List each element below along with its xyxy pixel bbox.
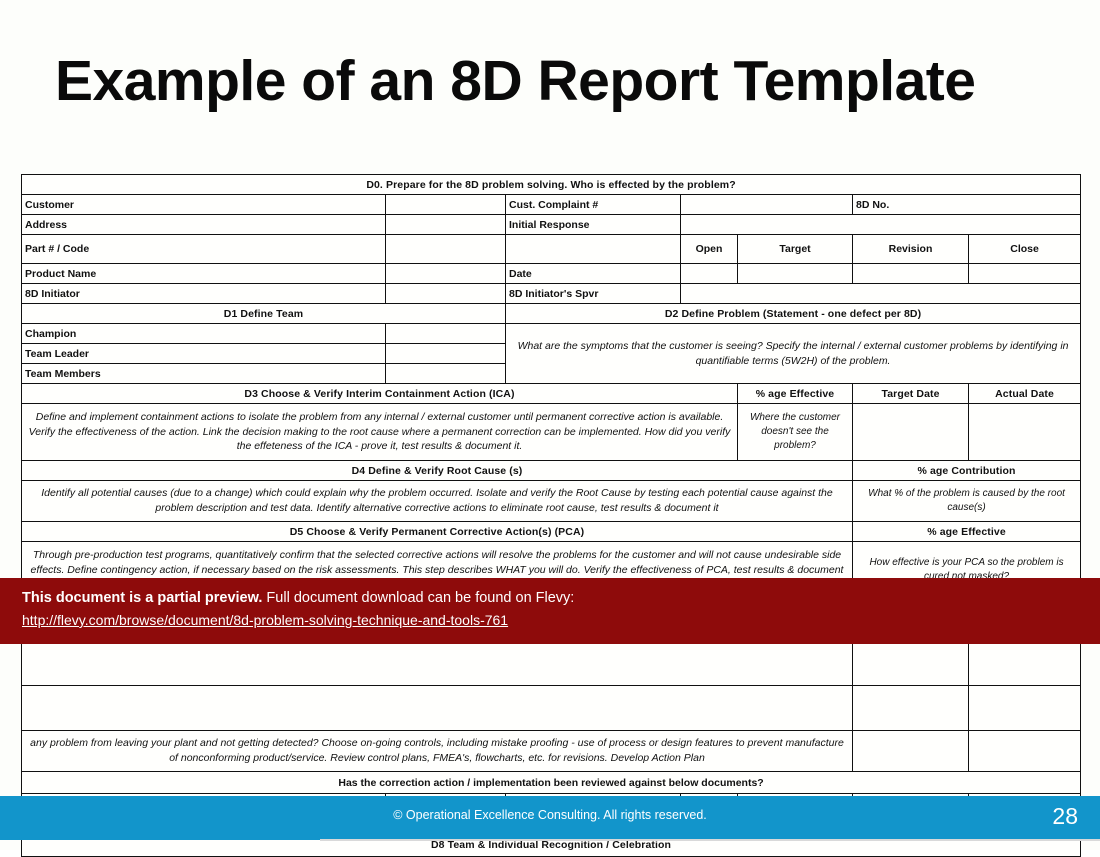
date-close-cell[interactable]	[969, 264, 1081, 284]
d7-description: any problem from leaving your plant and …	[22, 731, 853, 772]
eight-d-form-table: D0. Prepare for the 8D problem solving. …	[21, 174, 1080, 857]
banner-rest-text: Full document download can be found on F…	[266, 590, 574, 606]
table-row: Customer Cust. Complaint # 8D No.	[22, 195, 1081, 215]
table-row: any problem from leaving your plant and …	[22, 731, 1081, 772]
initiator-label: 8D Initiator	[22, 284, 386, 304]
product-name-value-cell[interactable]	[386, 264, 506, 284]
part-code-spacer-cell	[506, 235, 681, 264]
table-row: Has the correction action / implementati…	[22, 772, 1081, 794]
d3-pct-effective-header: % age Effective	[738, 384, 853, 404]
cust-complaint-label: Cust. Complaint #	[506, 195, 681, 215]
date-label: Date	[506, 264, 681, 284]
champion-value-cell[interactable]	[386, 324, 506, 344]
open-column-header: Open	[681, 235, 738, 264]
d2-description: What are the symptoms that the customer …	[506, 324, 1081, 384]
d5-section-header: D5 Choose & Verify Permanent Corrective …	[22, 522, 853, 542]
d3-target-date-cell[interactable]	[853, 404, 969, 461]
table-row: Define and implement containment actions…	[22, 404, 1081, 461]
copyright-text: © Operational Excellence Consulting. All…	[0, 808, 1100, 822]
table-row: D4 Define & Verify Root Cause (s) % age …	[22, 461, 1081, 481]
slide-canvas: Example of an 8D Report Template D0. Pre…	[0, 0, 1100, 850]
d3-actual-date-header: Actual Date	[969, 384, 1081, 404]
table-row: D0. Prepare for the 8D problem solving. …	[22, 175, 1081, 195]
d5-pct-effective-header: % age Effective	[853, 522, 1081, 542]
cust-complaint-value-cell[interactable]	[681, 195, 853, 215]
page-title: Example of an 8D Report Template	[55, 48, 976, 114]
d7-actual-date-cell[interactable]	[969, 731, 1081, 772]
customer-value-cell[interactable]	[386, 195, 506, 215]
date-revision-cell[interactable]	[853, 264, 969, 284]
banner-line-1: This document is a partial preview. Full…	[22, 588, 1100, 608]
part-code-value-cell[interactable]	[386, 235, 506, 264]
initiator-spvr-label: 8D Initiator's Spvr	[506, 284, 681, 304]
d2-section-header: D2 Define Problem (Statement - one defec…	[506, 304, 1081, 324]
initiator-spvr-value-cell[interactable]	[681, 284, 1081, 304]
close-column-header: Close	[969, 235, 1081, 264]
form-table: D0. Prepare for the 8D problem solving. …	[21, 174, 1081, 857]
address-label: Address	[22, 215, 386, 235]
initiator-value-cell[interactable]	[386, 284, 506, 304]
d3-section-header: D3 Choose & Verify Interim Containment A…	[22, 384, 738, 404]
table-row: D5 Choose & Verify Permanent Corrective …	[22, 522, 1081, 542]
table-row: Part # / Code Open Target Revision Close	[22, 235, 1081, 264]
d3-actual-date-cell[interactable]	[969, 404, 1081, 461]
revision-column-header: Revision	[853, 235, 969, 264]
footer-divider	[320, 839, 1100, 841]
d7-hidden-header-cell	[22, 686, 853, 731]
flevy-document-link[interactable]: http://flevy.com/browse/document/8d-prob…	[22, 610, 508, 631]
table-row: Address Initial Response	[22, 215, 1081, 235]
table-row: 8D Initiator 8D Initiator's Spvr	[22, 284, 1081, 304]
address-value-cell[interactable]	[386, 215, 506, 235]
d4-pct-contribution-header: % age Contribution	[853, 461, 1081, 481]
date-open-cell[interactable]	[681, 264, 738, 284]
team-leader-label: Team Leader	[22, 344, 386, 364]
team-leader-value-cell[interactable]	[386, 344, 506, 364]
d3-pct-effective-note: Where the customer doesn't see the probl…	[738, 404, 853, 461]
part-code-label: Part # / Code	[22, 235, 386, 264]
d7-review-question: Has the correction action / implementati…	[22, 772, 1081, 794]
d4-section-header: D4 Define & Verify Root Cause (s)	[22, 461, 853, 481]
champion-label: Champion	[22, 324, 386, 344]
d0-section-header: D0. Prepare for the 8D problem solving. …	[22, 175, 1081, 195]
d4-description: Identify all potential causes (due to a …	[22, 481, 853, 522]
team-members-value-cell[interactable]	[386, 364, 506, 384]
partial-preview-banner: This document is a partial preview. Full…	[0, 578, 1100, 644]
table-row	[22, 686, 1081, 731]
target-column-header: Target	[738, 235, 853, 264]
customer-label: Customer	[22, 195, 386, 215]
table-row: Champion What are the symptoms that the …	[22, 324, 1081, 344]
banner-bold-text: This document is a partial preview.	[22, 590, 262, 606]
d3-description: Define and implement containment actions…	[22, 404, 738, 461]
initial-response-value-cell[interactable]	[681, 215, 1081, 235]
team-members-label: Team Members	[22, 364, 386, 384]
product-name-label: Product Name	[22, 264, 386, 284]
d1-section-header: D1 Define Team	[22, 304, 506, 324]
d4-pct-contribution-note: What % of the problem is caused by the r…	[853, 481, 1081, 522]
table-row: Identify all potential causes (due to a …	[22, 481, 1081, 522]
table-row: D1 Define Team D2 Define Problem (Statem…	[22, 304, 1081, 324]
initial-response-label: Initial Response	[506, 215, 681, 235]
page-number: 28	[1052, 803, 1078, 830]
d7-hidden-target-cell	[853, 686, 969, 731]
d7-target-date-cell[interactable]	[853, 731, 969, 772]
date-target-cell[interactable]	[738, 264, 853, 284]
table-row: D3 Choose & Verify Interim Containment A…	[22, 384, 1081, 404]
eight-d-no-label: 8D No.	[853, 195, 1081, 215]
d7-hidden-actual-cell	[969, 686, 1081, 731]
d3-target-date-header: Target Date	[853, 384, 969, 404]
slide-footer: © Operational Excellence Consulting. All…	[0, 796, 1100, 840]
table-row: Product Name Date	[22, 264, 1081, 284]
